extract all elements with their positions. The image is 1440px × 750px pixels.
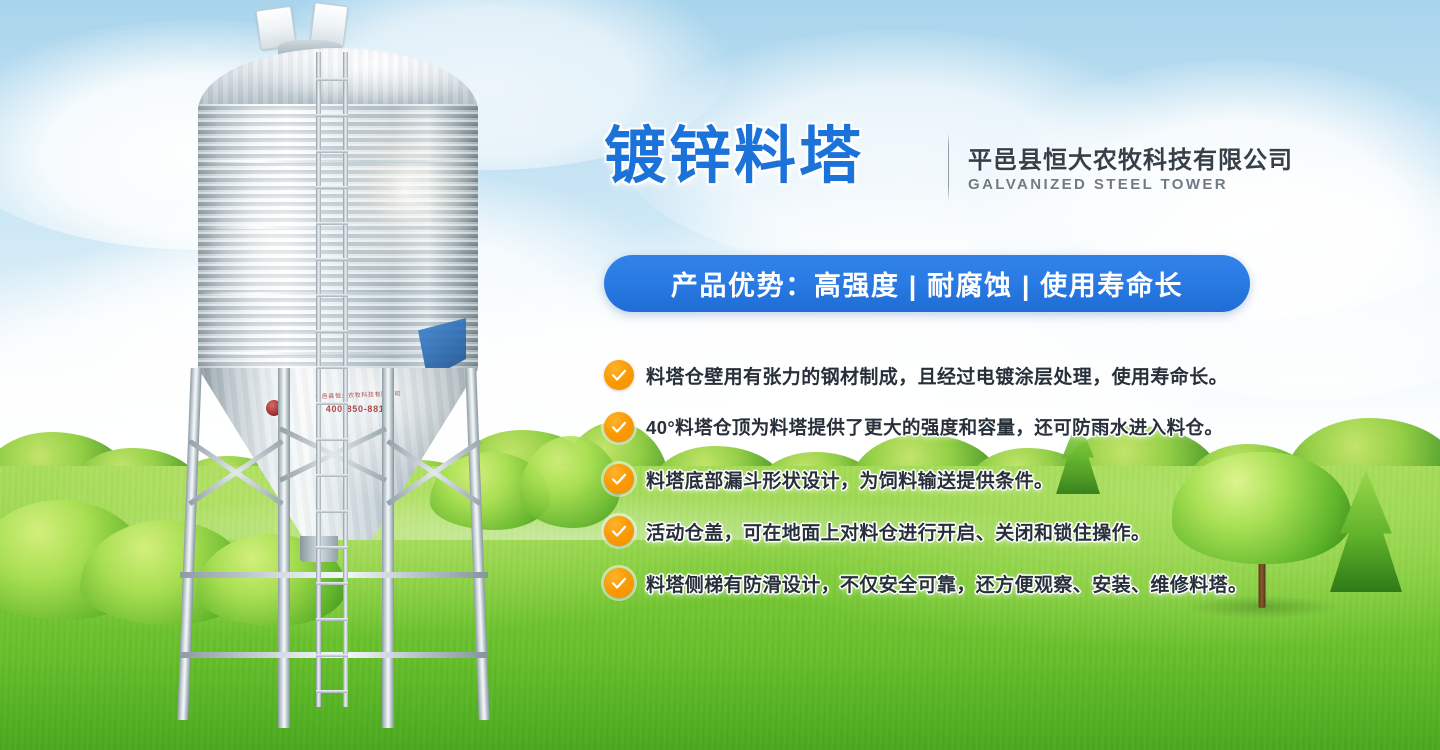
english-subtitle: GALVANIZED STEEL TOWER [968,176,1228,193]
silo-support-leg [278,368,290,728]
feature-text: 料塔底部漏斗形状设计，为饲料输送提供条件。 [646,466,1053,493]
list-item: 料塔底部漏斗形状设计，为饲料输送提供条件。 [604,453,1304,505]
feature-text: 料塔仓壁用有张力的钢材制成，且经过电镀涂层处理，使用寿命长。 [646,362,1228,389]
feature-text: 料塔侧梯有防滑设计，不仅安全可靠，还方便观察、安装、维修料塔。 [646,570,1247,597]
check-circle-icon [604,568,634,598]
feature-text: 40°料塔仓顶为料塔提供了更大的强度和容量，还可防雨水进入料仓。 [646,414,1223,440]
check-circle-icon [604,516,634,546]
list-item: 料塔侧梯有防滑设计，不仅安全可靠，还方便观察、安装、维修料塔。 [604,557,1304,609]
feature-list: 料塔仓壁用有张力的钢材制成，且经过电镀涂层处理，使用寿命长。 40°料塔仓顶为料… [604,349,1304,609]
headline-divider [948,132,949,202]
advantage-pill-label: 产品优势：高强度 | 耐腐蚀 | 使用寿命长 [671,264,1183,303]
page-title: 镀锌料塔 [604,126,864,188]
headline-block: 镀锌料塔 平邑县恒大农牧科技有限公司 GALVANIZED STEEL TOWE… [604,120,1304,220]
list-item: 料塔仓壁用有张力的钢材制成，且经过电镀涂层处理，使用寿命长。 [604,349,1304,401]
promo-text-panel: 镀锌料塔 平邑县恒大农牧科技有限公司 GALVANIZED STEEL TOWE… [604,0,1304,750]
promo-banner: 平邑县恒大农牧科技有限公司 400-850-8819 [0,0,1440,750]
check-circle-icon [604,464,634,494]
check-circle-icon [604,360,634,390]
feature-text: 活动仓盖，可在地面上对料仓进行开启、关闭和锁住操作。 [646,518,1150,545]
galvanized-feed-silo-image: 平邑县恒大农牧科技有限公司 400-850-8819 [150,0,520,740]
silo-support-leg [177,368,202,720]
silo-side-ladder [316,52,348,707]
silo-support-leg [382,368,394,728]
check-circle-icon [604,412,634,442]
silo-support-leg [465,368,490,720]
advantage-pill: 产品优势：高强度 | 耐腐蚀 | 使用寿命长 [604,255,1250,312]
list-item: 活动仓盖，可在地面上对料仓进行开启、关闭和锁住操作。 [604,505,1304,557]
list-item: 40°料塔仓顶为料塔提供了更大的强度和容量，还可防雨水进入料仓。 [604,401,1304,453]
company-name: 平邑县恒大农牧科技有限公司 [968,140,1293,175]
